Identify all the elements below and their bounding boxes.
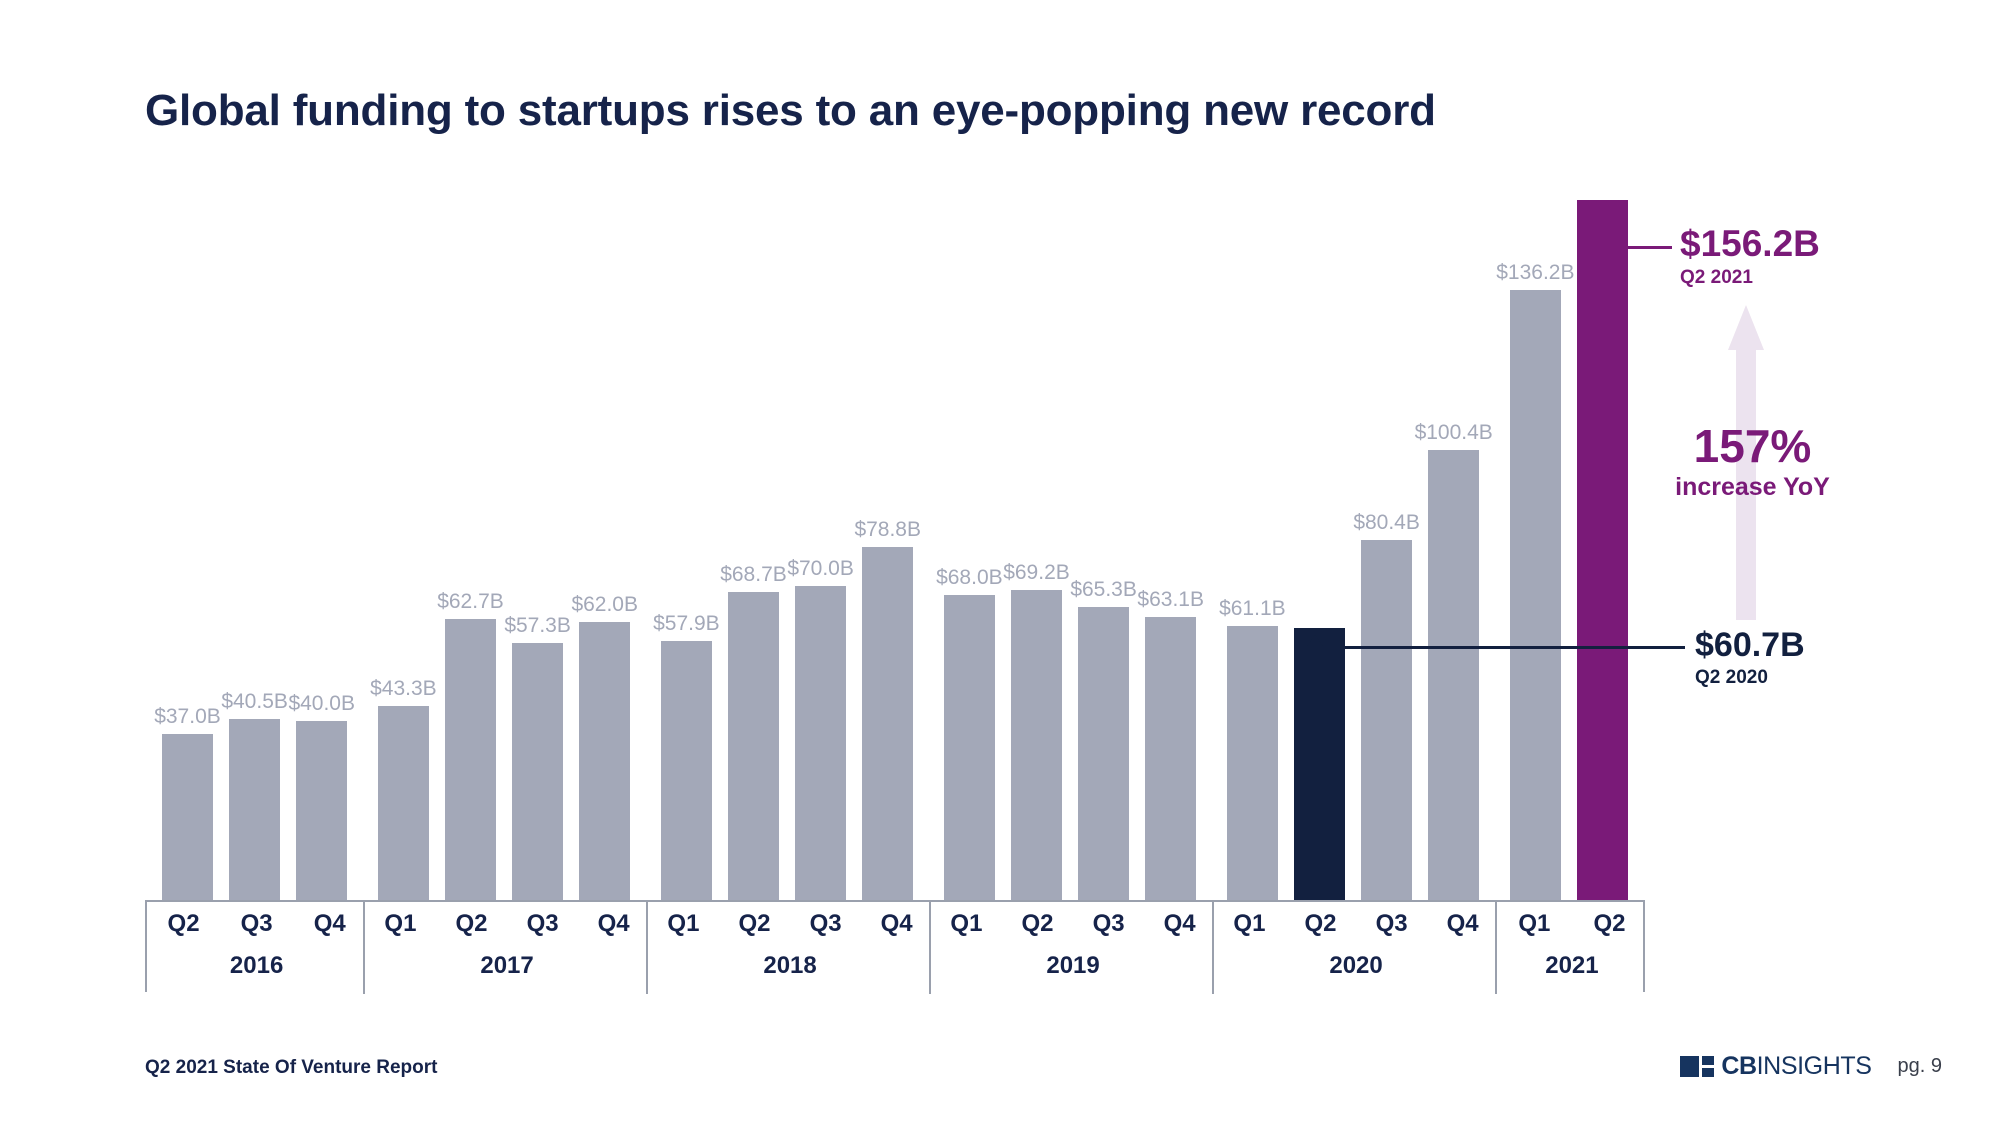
- page-number: pg. 9: [1898, 1055, 1942, 1078]
- axis-quarter-row: Q1Q2Q3Q4: [648, 910, 932, 938]
- axis-quarter-label: Q1: [367, 910, 434, 938]
- bar-value-label: $78.8B: [854, 518, 921, 542]
- bar-q1-2019[interactable]: $68.0B: [944, 595, 995, 900]
- slide-canvas: Global funding to startups rises to an e…: [0, 0, 2000, 1125]
- bars-layer: $37.0B$40.5B$40.0B$43.3B$62.7B$57.3B$62.…: [145, 200, 1645, 900]
- bar-value-label: $61.1B: [1219, 597, 1286, 621]
- axis-quarter-row: Q1Q2: [1497, 910, 1647, 938]
- bar-value-label: $65.3B: [1070, 578, 1137, 602]
- axis-year-label: 2018: [648, 952, 932, 980]
- bar-value-label: $57.3B: [504, 614, 571, 638]
- bar-value-label: $80.4B: [1353, 511, 1420, 535]
- purple-callout-line: [1600, 246, 1672, 249]
- axis-quarter-row: Q1Q2Q3Q4: [365, 910, 649, 938]
- bar-q1-2021[interactable]: $136.2B: [1510, 290, 1561, 900]
- navy-callout-line: [1305, 646, 1685, 649]
- axis-quarter-label: Q4: [863, 910, 930, 938]
- page-title: Global funding to startups rises to an e…: [145, 86, 1436, 136]
- arrow-head: [1728, 305, 1764, 350]
- bar-q4-2017[interactable]: $62.0B: [579, 622, 630, 900]
- axis-year-group-2020: Q1Q2Q3Q42020: [1212, 902, 1498, 994]
- annotation-q2-2020: $60.7B Q2 2020: [1695, 628, 1805, 689]
- axis-year-group-2016: Q2Q3Q42016: [147, 902, 366, 994]
- bar-q2-2020[interactable]: [1294, 628, 1345, 900]
- bar-q3-2018[interactable]: $70.0B: [795, 586, 846, 900]
- bar-value-label: $68.0B: [936, 566, 1003, 590]
- axis-quarter-label: Q2: [1576, 910, 1643, 938]
- bar-value-label: $62.7B: [437, 590, 504, 614]
- bar-value-label: $100.4B: [1415, 421, 1493, 445]
- axis-quarter-label: Q1: [650, 910, 717, 938]
- axis-quarter-label: Q2: [1004, 910, 1071, 938]
- axis-quarter-label: Q3: [509, 910, 576, 938]
- bar-value-label: $40.0B: [288, 692, 355, 716]
- bar-q3-2017[interactable]: $57.3B: [512, 643, 563, 900]
- bar-q1-2018[interactable]: $57.9B: [661, 641, 712, 900]
- bar-value-label: $57.9B: [653, 612, 720, 636]
- bar-q3-2019[interactable]: $65.3B: [1078, 607, 1129, 900]
- bar-value-label: $37.0B: [154, 705, 221, 729]
- axis-year-group-2018: Q1Q2Q3Q42018: [646, 902, 932, 994]
- axis-quarter-label: Q2: [150, 910, 217, 938]
- navy-callout-marker: [1307, 635, 1323, 646]
- annotation-q2-2021-value: $156.2B: [1680, 225, 1820, 264]
- axis-quarter-label: Q4: [1146, 910, 1213, 938]
- bar-q2-2016[interactable]: $37.0B: [162, 734, 213, 900]
- axis-quarter-row: Q2Q3Q4: [147, 910, 366, 938]
- axis-year-label: 2019: [931, 952, 1215, 980]
- axis-year-group-2017: Q1Q2Q3Q42017: [363, 902, 649, 994]
- bar-q2-2018[interactable]: $68.7B: [728, 592, 779, 900]
- axis-quarter-label: Q1: [1501, 910, 1568, 938]
- axis-year-label: 2020: [1214, 952, 1498, 980]
- bar-q2-2021[interactable]: [1577, 200, 1628, 900]
- footer-brand-area: CBINSIGHTS pg. 9: [1680, 1052, 1942, 1081]
- bar-value-label: $40.5B: [221, 690, 288, 714]
- bar-chart: $37.0B$40.5B$40.0B$43.3B$62.7B$57.3B$62.…: [145, 200, 1645, 900]
- bar-value-label: $43.3B: [370, 677, 437, 701]
- bar-q4-2016[interactable]: $40.0B: [296, 721, 347, 900]
- annotation-yoy-percent: 157%: [1645, 423, 1860, 469]
- x-axis: Q2Q3Q42016Q1Q2Q3Q42017Q1Q2Q3Q42018Q1Q2Q3…: [145, 900, 1645, 992]
- bar-q2-2017[interactable]: $62.7B: [445, 619, 496, 900]
- bar-q4-2018[interactable]: $78.8B: [862, 547, 913, 900]
- bar-q3-2020[interactable]: $80.4B: [1361, 540, 1412, 900]
- axis-year-label: 2016: [147, 952, 366, 980]
- axis-quarter-label: Q3: [1358, 910, 1425, 938]
- axis-quarter-label: Q2: [438, 910, 505, 938]
- axis-year-label: 2021: [1497, 952, 1647, 980]
- axis-quarter-label: Q4: [296, 910, 363, 938]
- axis-quarter-label: Q2: [721, 910, 788, 938]
- axis-year-group-2021: Q1Q22021: [1495, 902, 1647, 994]
- footer-report-name: Q2 2021 State Of Venture Report: [145, 1057, 438, 1079]
- bar-q1-2020[interactable]: $61.1B: [1227, 626, 1278, 900]
- bar-q2-2019[interactable]: $69.2B: [1011, 590, 1062, 900]
- bar-q4-2019[interactable]: $63.1B: [1145, 617, 1196, 900]
- annotation-yoy-caption: increase YoY: [1645, 473, 1860, 502]
- annotation-q2-2021: $156.2B Q2 2021: [1680, 225, 1820, 289]
- bar-q4-2020[interactable]: $100.4B: [1428, 450, 1479, 900]
- axis-quarter-label: Q1: [933, 910, 1000, 938]
- axis-quarter-label: Q3: [1075, 910, 1142, 938]
- axis-quarter-label: Q4: [580, 910, 647, 938]
- bar-value-label: $68.7B: [720, 563, 787, 587]
- brand-light: INSIGHTS: [1757, 1052, 1872, 1080]
- annotation-q2-2020-value: $60.7B: [1695, 628, 1805, 664]
- axis-quarter-row: Q1Q2Q3Q4: [931, 910, 1215, 938]
- axis-quarter-label: Q3: [223, 910, 290, 938]
- annotation-q2-2020-period: Q2 2020: [1695, 667, 1805, 689]
- cbinsights-logo: CBINSIGHTS: [1680, 1052, 1871, 1081]
- axis-year-label: 2017: [365, 952, 649, 980]
- axis-quarter-row: Q1Q2Q3Q4: [1214, 910, 1498, 938]
- purple-callout-marker: [1585, 234, 1603, 246]
- cbinsights-logo-mark-icon: [1680, 1056, 1714, 1077]
- axis-quarter-label: Q1: [1216, 910, 1283, 938]
- bar-value-label: $62.0B: [571, 593, 638, 617]
- annotation-q2-2021-period: Q2 2021: [1680, 267, 1820, 289]
- axis-quarter-label: Q4: [1429, 910, 1496, 938]
- bar-q3-2016[interactable]: $40.5B: [229, 719, 280, 900]
- brand-bold: CB: [1721, 1052, 1756, 1080]
- cbinsights-logo-text: CBINSIGHTS: [1721, 1052, 1871, 1081]
- bar-q1-2017[interactable]: $43.3B: [378, 706, 429, 900]
- bar-value-label: $69.2B: [1003, 561, 1070, 585]
- bar-value-label: $70.0B: [787, 557, 854, 581]
- annotation-yoy: 157% increase YoY: [1645, 423, 1860, 502]
- axis-quarter-label: Q3: [792, 910, 859, 938]
- axis-year-group-2019: Q1Q2Q3Q42019: [929, 902, 1215, 994]
- bar-value-label: $63.1B: [1137, 588, 1204, 612]
- axis-quarter-label: Q2: [1287, 910, 1354, 938]
- bar-value-label: $136.2B: [1496, 261, 1574, 285]
